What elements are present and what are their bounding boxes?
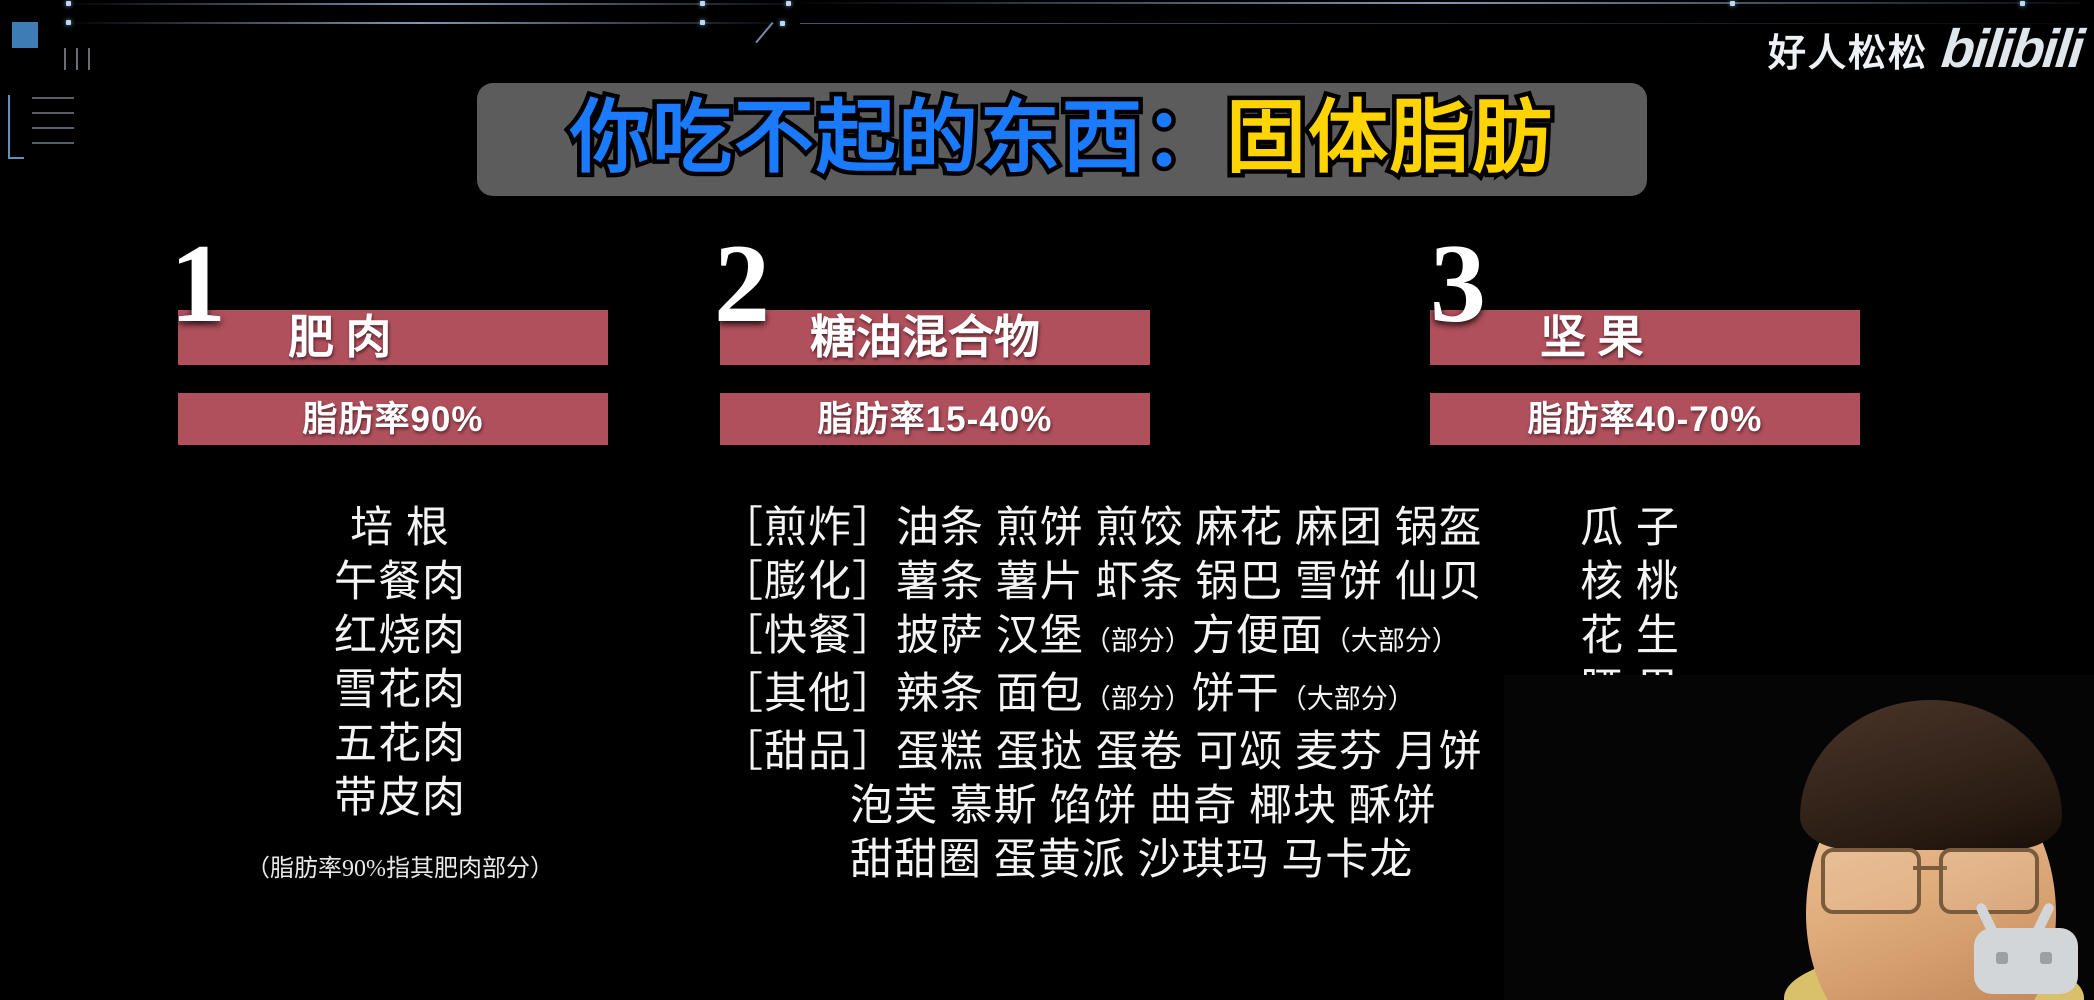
mascot-eye-right: [2040, 952, 2052, 964]
column-header: 1 肥 肉: [170, 250, 770, 380]
group-items: 辣条 面包: [896, 671, 1084, 718]
group-items-secondary: 饼干: [1192, 671, 1280, 718]
column-footnote: （脂肪率90%指其肥肉部分）: [170, 848, 770, 883]
fat-rate-bar: 脂肪率15-40%: [720, 393, 1150, 445]
headline-text: 你吃不起的东西：固体脂肪: [570, 98, 1554, 178]
group-tag: ［甜品］: [720, 726, 896, 780]
food-list: 培 根 午餐肉 红烧肉 雪花肉 五花肉 带皮肉: [170, 502, 770, 826]
hud-tick: [76, 48, 78, 70]
rank-number: 3: [1430, 228, 1486, 340]
rank-number: 1: [170, 228, 226, 340]
list-item: 带皮肉: [170, 772, 630, 826]
mascot-body: [1974, 928, 2078, 994]
column-fat-meat: 1 肥 肉 脂肪率90% 培 根 午餐肉 红烧肉 雪花肉 五花肉 带皮肉 （脂肪…: [170, 250, 770, 883]
hud-node-dot: [66, 1, 71, 6]
hud-diagonal-connector: [755, 22, 773, 43]
list-item: 泡芙 慕斯 馅饼 曲奇 椰块 酥饼: [720, 780, 1450, 834]
list-item: 核 桃: [1430, 556, 1830, 610]
list-item: 红烧肉: [170, 610, 630, 664]
list-item: 雪花肉: [170, 664, 630, 718]
rank-number: 2: [714, 228, 770, 340]
webcam-overlay: [1504, 675, 2094, 1000]
category-title: 坚 果: [1540, 315, 1644, 361]
hud-dash: [32, 97, 74, 99]
group-note: （部分）: [1084, 684, 1192, 714]
category-title: 肥 肉: [288, 315, 392, 361]
group-items: 薯条 薯片 虾条 锅巴 雪饼 仙贝: [896, 559, 1483, 606]
presenter-glasses: [1821, 848, 2039, 910]
hud-corner-bracket: [8, 95, 24, 159]
hud-accent-square: [12, 22, 38, 48]
group-items: 泡芙 慕斯 馅饼 曲奇 椰块 酥饼: [850, 783, 1437, 830]
category-title-bar: 糖油混合物: [720, 310, 1150, 365]
headline-banner: 你吃不起的东西：固体脂肪: [477, 83, 1647, 196]
list-item: 五花肉: [170, 718, 630, 772]
column-header: 3 坚 果: [1430, 250, 1990, 380]
group-items: 蛋糕 蛋挞 蛋卷 可颂 麦芬 月饼: [896, 729, 1483, 776]
video-frame: 好人松松 bilibili 你吃不起的东西：固体脂肪 1 肥 肉 脂肪率90% …: [0, 0, 2094, 1000]
hud-node-dot: [700, 20, 705, 25]
fat-rate-label: 脂肪率40-70%: [1528, 402, 1763, 437]
hud-node-dot: [1730, 1, 1735, 6]
headline-blue-part: 你吃不起的东西：: [570, 93, 1226, 182]
group-tag: ［膨化］: [720, 556, 896, 610]
column-header: 2 糖油混合物: [720, 250, 1450, 380]
list-item: 瓜 子: [1430, 502, 1830, 556]
group-items: 甜甜圈 蛋黄派 沙琪玛 马卡龙: [850, 837, 1413, 884]
headline-yellow-part: 固体脂肪: [1226, 93, 1554, 182]
group-note-secondary: （大部分）: [1280, 684, 1415, 714]
list-item: 甜甜圈 蛋黄派 沙琪玛 马卡龙: [720, 834, 1450, 888]
list-item: 花 生: [1430, 610, 1830, 664]
hud-node-dot: [66, 20, 71, 25]
category-title: 糖油混合物: [810, 315, 1040, 361]
list-item: ［膨化］薯条 薯片 虾条 锅巴 雪饼 仙贝: [720, 556, 1450, 610]
hud-line-right-upper: [790, 2, 2080, 4]
glasses-lens-left: [1821, 848, 1921, 914]
hud-dash: [32, 142, 74, 144]
fat-rate-bar: 脂肪率90%: [178, 393, 608, 445]
bilibili-logo: bilibili: [1939, 18, 2086, 80]
fat-rate-label: 脂肪率90%: [302, 402, 483, 437]
column-sugar-oil-mix: 2 糖油混合物 脂肪率15-40% ［煎炸］油条 煎饼 煎饺 麻花 麻团 锅盔 …: [720, 250, 1450, 888]
hud-node-dot: [786, 1, 791, 6]
hud-line-second: [64, 22, 774, 24]
group-tag: ［快餐］: [720, 610, 896, 664]
list-item: ［甜品］蛋糕 蛋挞 蛋卷 可颂 麦芬 月饼: [720, 726, 1450, 780]
group-items-secondary: 方便面: [1192, 613, 1324, 660]
list-item: ［快餐］披萨 汉堡（部分）方便面（大部分）: [720, 610, 1450, 668]
bilibili-mascot-icon: [1968, 902, 2086, 998]
channel-name: 好人松松: [1768, 22, 1928, 77]
channel-branding: 好人松松 bilibili: [1768, 18, 2082, 80]
category-title-bar: 坚 果: [1430, 310, 1860, 365]
category-title-bar: 肥 肉: [178, 310, 608, 365]
fat-rate-label: 脂肪率15-40%: [818, 402, 1053, 437]
list-item: 午餐肉: [170, 556, 630, 610]
list-item: 培 根: [170, 502, 630, 556]
group-tag: ［其他］: [720, 668, 896, 722]
group-items: 油条 煎饼 煎饺 麻花 麻团 锅盔: [896, 505, 1483, 552]
hud-node-dot: [2020, 1, 2025, 6]
food-list: ［煎炸］油条 煎饼 煎饺 麻花 麻团 锅盔 ［膨化］薯条 薯片 虾条 锅巴 雪饼…: [720, 502, 1450, 888]
hud-dash: [32, 112, 74, 114]
list-item: ［其他］辣条 面包（部分）饼干（大部分）: [720, 668, 1450, 726]
group-items: 披萨 汉堡: [896, 613, 1084, 660]
group-tag: ［煎炸］: [720, 502, 896, 556]
hud-line-top: [64, 3, 794, 5]
hud-node-dot: [780, 21, 785, 26]
hud-tick: [64, 48, 66, 70]
hud-dash: [32, 127, 74, 129]
list-item: ［煎炸］油条 煎饼 煎饺 麻花 麻团 锅盔: [720, 502, 1450, 556]
hud-node-dot: [700, 1, 705, 6]
mascot-eye-left: [1996, 952, 2008, 964]
group-note: （部分）: [1084, 626, 1192, 656]
fat-rate-bar: 脂肪率40-70%: [1430, 393, 1860, 445]
hud-tick: [88, 48, 90, 70]
